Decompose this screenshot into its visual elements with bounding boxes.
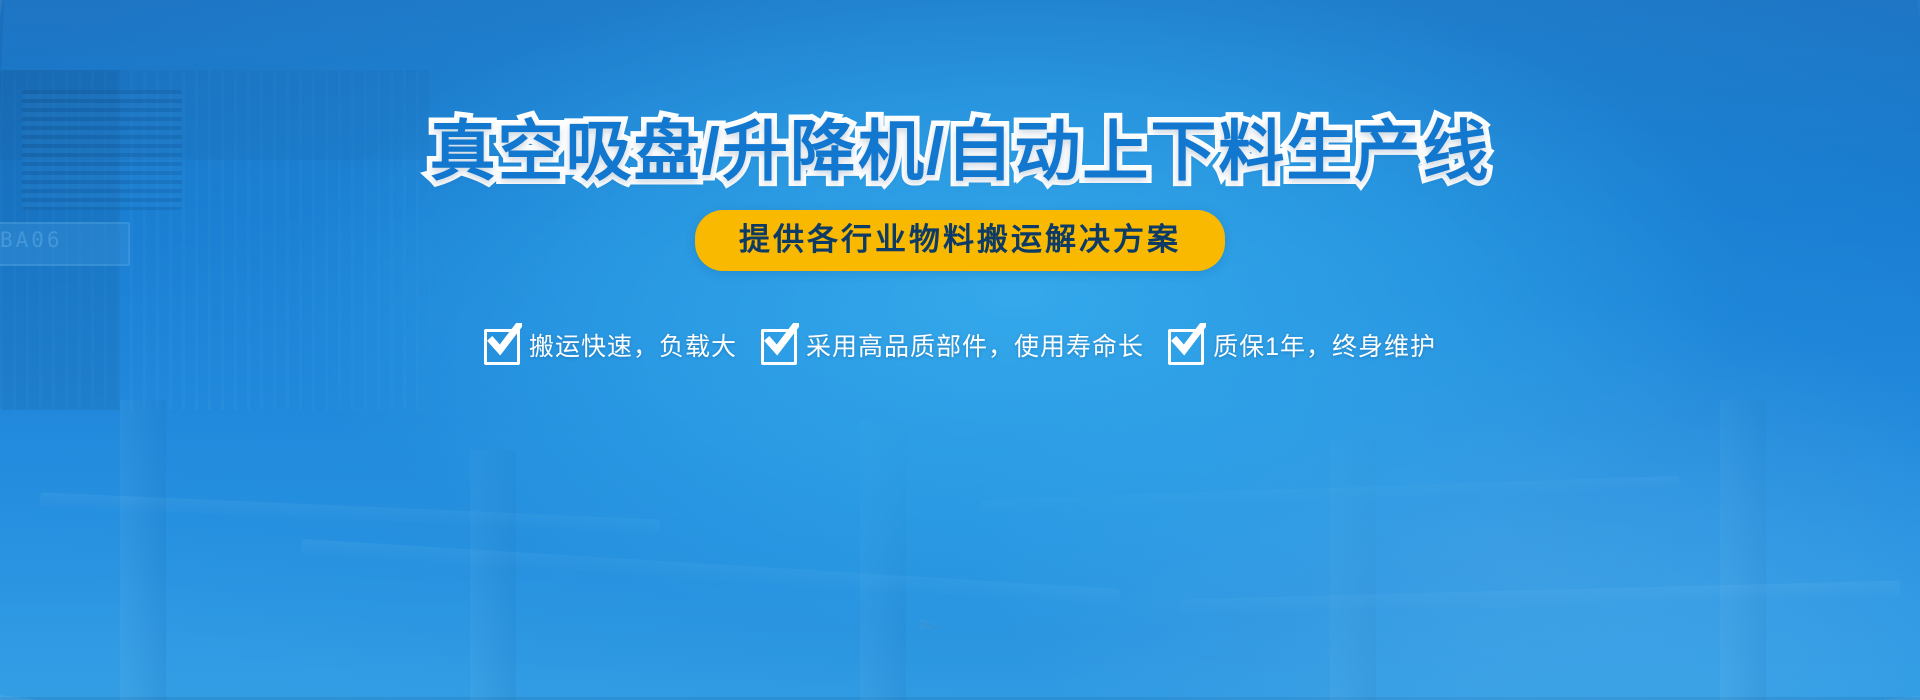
banner-headline: 真空吸盘/升降机/自动上下料生产线 [430, 118, 1491, 184]
feature-label: 采用高品质部件，使用寿命长 [806, 335, 1144, 360]
feature-item: 质保1年，终身维护 [1168, 329, 1436, 365]
hero-banner: BA06 真空吸盘/升降机/自动上下料生产线 提供各行业物料搬运解决方案 搬运快… [0, 0, 1920, 700]
feature-label: 质保1年，终身维护 [1213, 335, 1436, 360]
banner-subtitle-badge: 提供各行业物料搬运解决方案 [695, 210, 1225, 271]
feature-item: 采用高品质部件，使用寿命长 [761, 329, 1144, 365]
feature-list: 搬运快速，负载大 采用高品质部件，使用寿命长 质保1年，终身维护 [484, 329, 1436, 365]
check-box-icon [761, 329, 797, 365]
check-box-icon [484, 329, 520, 365]
feature-item: 搬运快速，负载大 [484, 329, 737, 365]
banner-content: 真空吸盘/升降机/自动上下料生产线 提供各行业物料搬运解决方案 搬运快速，负载大… [0, 0, 1920, 700]
check-box-icon [1168, 329, 1204, 365]
feature-label: 搬运快速，负载大 [529, 335, 737, 360]
